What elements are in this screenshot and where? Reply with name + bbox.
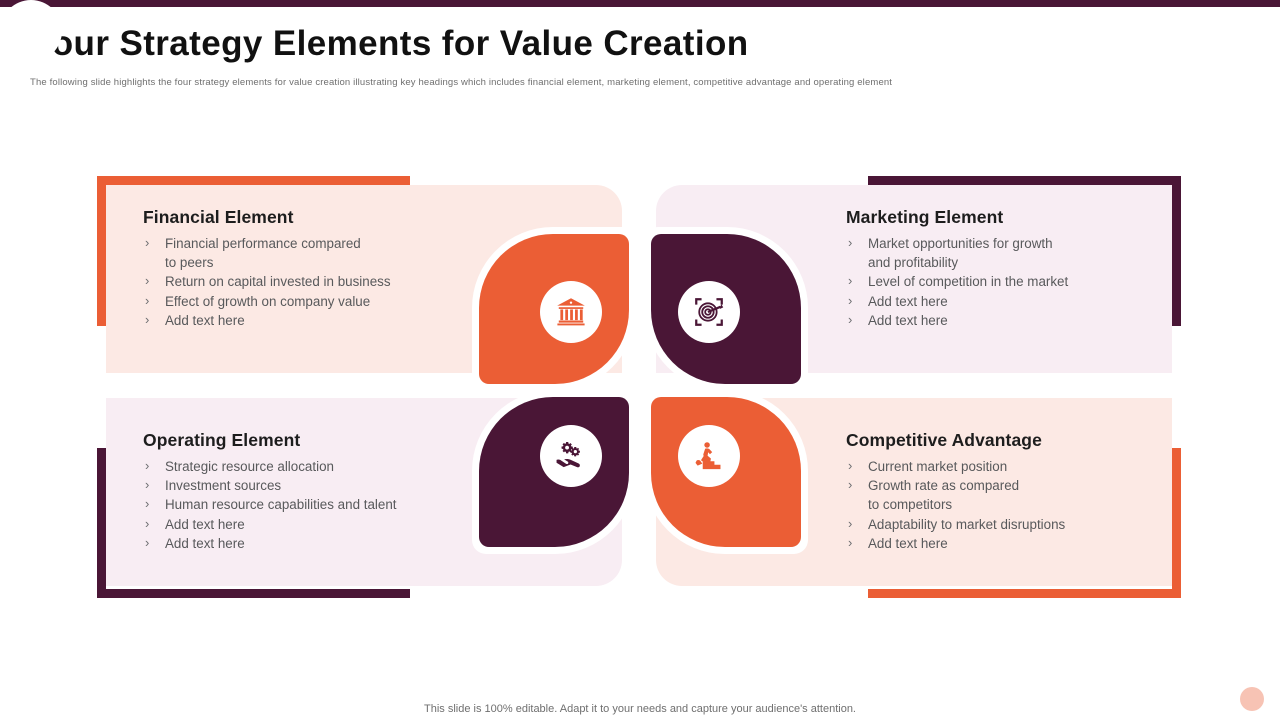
card-title-operating-element: Operating Element bbox=[143, 430, 300, 451]
target-arrow-icon bbox=[692, 295, 726, 329]
icon-badge-bank bbox=[540, 281, 602, 343]
list-item: Add text here bbox=[143, 311, 473, 330]
card-frame-left bbox=[97, 448, 106, 598]
icon-badge-hand-gears bbox=[540, 425, 602, 487]
card-title-financial-element: Financial Element bbox=[143, 207, 294, 228]
list-item: Financial performance compared to peers bbox=[143, 234, 473, 272]
list-item: Level of competition in the market bbox=[846, 272, 1166, 291]
corner-dot-decoration bbox=[1240, 687, 1264, 711]
icon-badge-person-stairs bbox=[678, 425, 740, 487]
card-bullets-competitive-advantage: Current market position Growth rate as c… bbox=[846, 457, 1176, 553]
bank-icon bbox=[554, 295, 588, 329]
list-item: Effect of growth on company value bbox=[143, 292, 473, 311]
icon-circle-financial-element bbox=[0, 0, 62, 62]
footer-note: This slide is 100% editable. Adapt it to… bbox=[0, 703, 1280, 715]
hand-gears-icon bbox=[554, 439, 588, 473]
card-frame-right bbox=[1172, 176, 1181, 326]
card-frame-top bbox=[97, 176, 410, 185]
card-title-marketing-element: Marketing Element bbox=[846, 207, 1003, 228]
list-item: Current market position bbox=[846, 457, 1176, 476]
list-item: Market opportunities for growth and prof… bbox=[846, 234, 1166, 272]
list-item: Add text here bbox=[846, 292, 1166, 311]
list-item: Add text here bbox=[143, 534, 483, 553]
card-frame-left bbox=[97, 176, 106, 326]
top-accent-bar bbox=[0, 0, 1280, 7]
card-frame-bottom bbox=[97, 589, 410, 598]
card-frame-top bbox=[868, 176, 1181, 185]
list-item: Return on capital invested in business bbox=[143, 272, 473, 291]
list-item: Growth rate as compared to competitors bbox=[846, 476, 1176, 514]
card-bullets-marketing-element: Market opportunities for growth and prof… bbox=[846, 234, 1166, 330]
slide-canvas: Four Strategy Elements for Value Creatio… bbox=[0, 0, 1280, 720]
list-item: Add text here bbox=[846, 534, 1176, 553]
page-subtitle: The following slide highlights the four … bbox=[30, 77, 892, 88]
list-item: Strategic resource allocation bbox=[143, 457, 483, 476]
list-item: Add text here bbox=[143, 515, 483, 534]
page-title: Four Strategy Elements for Value Creatio… bbox=[30, 24, 749, 64]
card-title-competitive-advantage: Competitive Advantage bbox=[846, 430, 1042, 451]
list-item: Investment sources bbox=[143, 476, 483, 495]
card-bullets-operating-element: Strategic resource allocation Investment… bbox=[143, 457, 483, 553]
icon-badge-target bbox=[678, 281, 740, 343]
list-item: Human resource capabilities and talent bbox=[143, 495, 483, 514]
card-frame-bottom bbox=[868, 589, 1181, 598]
person-stairs-icon bbox=[692, 439, 726, 473]
list-item: Adaptability to market disruptions bbox=[846, 515, 1176, 534]
list-item: Add text here bbox=[846, 311, 1166, 330]
card-bullets-financial-element: Financial performance compared to peers … bbox=[143, 234, 473, 330]
